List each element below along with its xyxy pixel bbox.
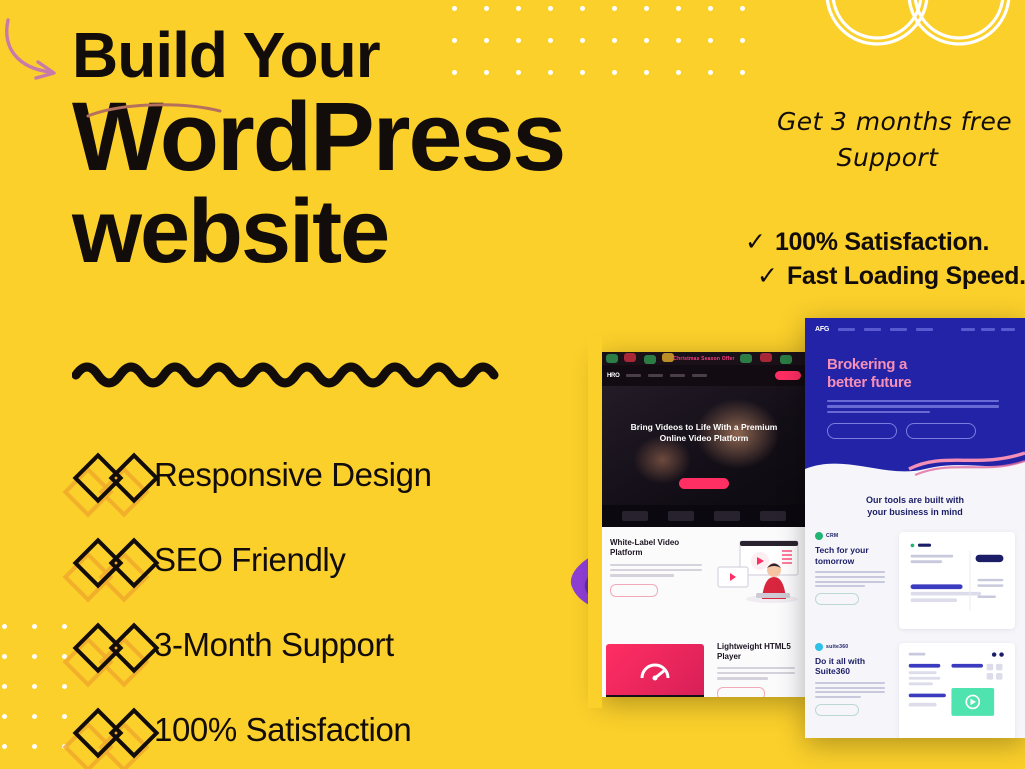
double-diamond-icon <box>76 622 154 668</box>
hero-button-primary[interactable] <box>827 423 897 439</box>
curved-arrow-icon <box>0 14 78 94</box>
section-body-lines <box>610 564 702 577</box>
ui-card-illustration <box>899 532 1015 629</box>
poster-canvas: Build Your WordPress website Responsive … <box>0 0 1025 769</box>
nav-link[interactable] <box>838 328 855 331</box>
headline-line-1: Build Your <box>72 24 692 87</box>
learn-more-button[interactable] <box>815 704 859 716</box>
promo-callout: Get 3 months free Support <box>745 104 1020 177</box>
nav-link[interactable] <box>626 374 641 377</box>
check-icon: ✓ <box>757 264 778 289</box>
hero-cta-button[interactable] <box>679 478 729 489</box>
video-player-card[interactable] <box>606 644 704 697</box>
block-title: Tech for your tomorrow <box>815 545 891 566</box>
nav-utility-links[interactable] <box>961 328 1015 331</box>
check-list: ✓ 100% Satisfaction. ✓ Fast Loading Spee… <box>745 228 1021 296</box>
partner-logo <box>760 511 786 521</box>
feature-label: 100% Satisfaction <box>154 711 411 749</box>
headline: Build Your WordPress website <box>72 24 692 276</box>
list-item: ✓ 100% Satisfaction. <box>745 228 1021 257</box>
block-title-line-1: Tech for your <box>815 545 869 555</box>
suite360-dashboard-graphic <box>905 649 1009 729</box>
list-item: ✓ Fast Loading Speed. <box>745 262 1021 291</box>
promo-line-1: Get 3 months free <box>769 104 1020 140</box>
section-title: White-Label Video Platform <box>610 538 705 558</box>
block-title-line-2: tomorrow <box>815 556 854 566</box>
feature-label: 3-Month Support <box>154 626 394 664</box>
mockup-video-platform[interactable]: Christmas Season Offer HRO Bring Videos … <box>600 352 808 697</box>
partner-logo <box>668 511 694 521</box>
brand-name: suite360 <box>826 644 848 650</box>
hero-body-lines <box>827 400 999 414</box>
brand-name: CRM <box>826 533 838 539</box>
section-heading: Our tools are built with your business i… <box>805 494 1025 518</box>
wave-divider <box>805 439 1025 484</box>
announcement-bar: Christmas Season Offer <box>600 352 808 365</box>
partner-logo <box>622 511 648 521</box>
illustration-person-laptop <box>710 537 802 609</box>
suite360-icon <box>815 643 823 651</box>
hero-button-secondary[interactable] <box>906 423 976 439</box>
double-diamond-icon <box>76 537 154 583</box>
nav-link[interactable] <box>916 328 933 331</box>
feature-list: Responsive Design SEO Friendly 3-Month S… <box>76 432 546 769</box>
swoosh-underline-icon <box>84 100 224 124</box>
nav-link[interactable] <box>692 374 707 377</box>
crm-icon <box>815 532 823 540</box>
list-item: Responsive Design <box>76 432 546 517</box>
block-title: Do it all with Suite360 <box>815 656 891 677</box>
hero-title-line-1: Brokering a <box>827 356 907 373</box>
speedometer-icon <box>606 644 704 697</box>
hero-title: Bring Videos to Life With a Premium Onli… <box>627 422 782 444</box>
check-label: Fast Loading Speed. <box>787 262 1025 291</box>
section-heading-line-1: Our tools are built with <box>866 495 964 505</box>
feature-block-crm: CRM Tech for your tomorrow <box>805 518 1025 629</box>
double-diamond-icon <box>76 452 154 498</box>
logo-strip <box>600 505 808 527</box>
list-item: SEO Friendly <box>76 517 546 602</box>
nav-cta-button[interactable] <box>775 371 801 380</box>
wavy-underline-icon <box>72 355 512 391</box>
block-body-lines <box>815 571 885 587</box>
block-title-line-1: Do it all with <box>815 656 865 666</box>
hero-title: Brokering a better future <box>827 356 1025 393</box>
site-navbar: AFG <box>805 318 1025 340</box>
nav-link[interactable] <box>864 328 881 331</box>
site-logo: AFG <box>815 326 829 333</box>
crm-dashboard-graphic <box>905 538 1009 618</box>
nav-link[interactable] <box>670 374 685 377</box>
headline-line-3: website <box>72 188 692 276</box>
double-diamond-icon <box>76 707 154 753</box>
section-copy: Lightweight HTML5 Player <box>717 642 801 697</box>
check-icon: ✓ <box>745 230 766 255</box>
hero-buttons <box>827 423 1025 439</box>
check-label: 100% Satisfaction. <box>775 228 989 257</box>
hero-section: Brokering a better future <box>805 340 1025 484</box>
list-item: 3-Month Support <box>76 602 546 687</box>
nav-link[interactable] <box>648 374 663 377</box>
feature-label: Responsive Design <box>154 456 432 494</box>
brand-badge: suite360 <box>815 643 891 651</box>
content-sections: Our tools are built with your business i… <box>805 484 1025 738</box>
section-button[interactable] <box>610 584 658 597</box>
section-heading-line-2: your business in mind <box>867 507 963 517</box>
section-body-lines <box>717 667 795 680</box>
feature-block-suite360: suite360 Do it all with Suite360 <box>805 629 1025 738</box>
brand-badge: CRM <box>815 532 891 540</box>
overlapping-circles-icon <box>799 0 1025 56</box>
section-button[interactable] <box>717 687 765 697</box>
partner-logo <box>714 511 740 521</box>
promo-line-2: Support <box>755 140 1020 176</box>
list-item: 100% Satisfaction <box>76 687 546 769</box>
content-sections: White-Label Video Platform <box>600 527 808 697</box>
section-html5-player: Lightweight HTML5 Player <box>600 630 808 697</box>
ui-card-illustration <box>899 643 1015 738</box>
nav-link[interactable] <box>890 328 907 331</box>
feature-label: SEO Friendly <box>154 541 345 579</box>
frame-gap <box>588 336 602 708</box>
hero-title-line-2: better future <box>827 374 911 391</box>
announcement-text: Christmas Season Offer <box>673 356 734 362</box>
hero-section: Bring Videos to Life With a Premium Onli… <box>600 386 808 505</box>
section-title: Lightweight HTML5 Player <box>717 642 801 662</box>
hero-subtext <box>634 462 774 467</box>
learn-more-button[interactable] <box>815 593 859 605</box>
block-title-line-2: Suite360 <box>815 666 850 676</box>
site-logo: HRO <box>607 373 619 379</box>
site-navbar: HRO <box>600 365 808 386</box>
section-white-label: White-Label Video Platform <box>600 527 808 630</box>
block-body-lines <box>815 682 885 698</box>
mockup-afg-site[interactable]: AFG Brokering a better future <box>805 318 1025 738</box>
